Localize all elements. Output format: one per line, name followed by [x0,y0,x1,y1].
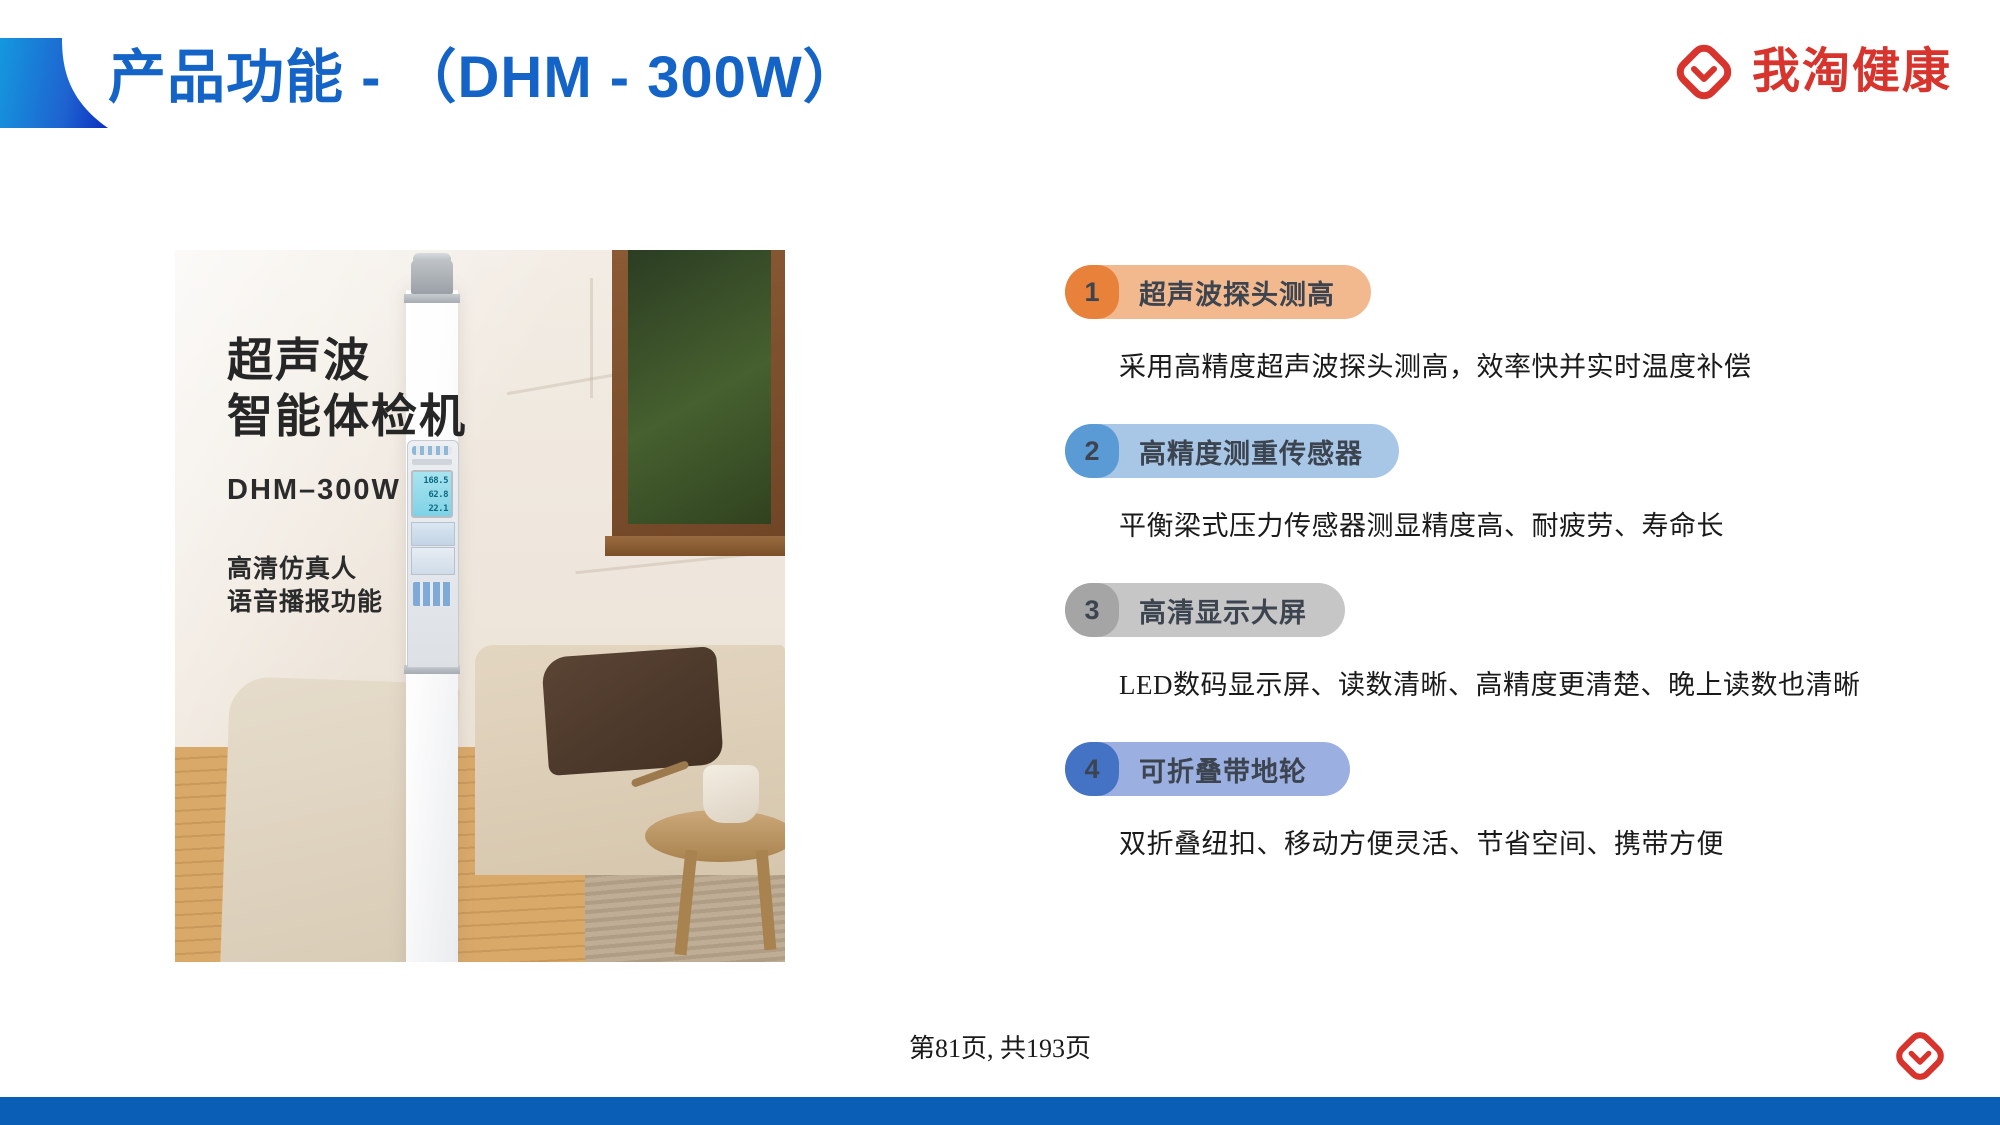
header-accent-shape [0,38,108,128]
photo-window-sill [605,536,785,556]
slide-header: 产品功能 - （DHM - 300W） 我淘健康 [0,0,2000,150]
photo-headline-line1: 超声波 [227,332,467,388]
photo-sub-line1: 高清仿真人 [227,553,467,586]
feature-pill-1[interactable]: 1 超声波探头测高 [1065,265,1371,319]
feature-description-3: LED数码显示屏、读数清晰、高精度更清楚、晚上读数也清晰 [1119,663,1925,702]
photo-cushion [541,646,724,776]
feature-item-2: 2 高精度测重传感器 平衡梁式压力传感器测显精度高、耐疲劳、寿命长 [1065,424,1925,543]
diamond-smile-icon [1672,40,1736,104]
photo-headline-line2: 智能体检机 [227,388,467,444]
photo-ceramic-jug [703,765,759,823]
feature-pill-3[interactable]: 3 高清显示大屏 [1065,583,1345,637]
page-title: 产品功能 - （DHM - 300W） [108,36,862,120]
photo-model-text: DHM–300W [227,474,467,507]
page-number: 第81页, 共193页 [0,1028,2000,1065]
feature-number-badge-1: 1 [1065,265,1119,319]
photo-text-overlay: 超声波 智能体检机 DHM–300W 高清仿真人 语音播报功能 [227,332,467,619]
feature-description-2: 平衡梁式压力传感器测显精度高、耐疲劳、寿命长 [1119,504,1925,543]
feature-label-1: 超声波探头测高 [1119,273,1335,312]
photo-sub-line2: 语音播报功能 [227,586,467,619]
device-ultrasonic-head [411,260,453,294]
feature-label-3: 高清显示大屏 [1119,591,1307,630]
feature-number-badge-4: 4 [1065,742,1119,796]
feature-description-4: 双折叠纽扣、移动方便灵活、节省空间、携带方便 [1119,822,1925,861]
device-band [404,294,460,303]
feature-pill-4[interactable]: 4 可折叠带地轮 [1065,742,1350,796]
feature-item-1: 1 超声波探头测高 采用高精度超声波探头测高，效率快并实时温度补偿 [1065,265,1925,384]
feature-description-1: 采用高精度超声波探头测高，效率快并实时温度补偿 [1119,345,1925,384]
feature-pill-2[interactable]: 2 高精度测重传感器 [1065,424,1399,478]
feature-item-3: 3 高清显示大屏 LED数码显示屏、读数清晰、高精度更清楚、晚上读数也清晰 [1065,583,1925,702]
feature-label-2: 高精度测重传感器 [1119,432,1363,471]
photo-window-frame [612,250,785,550]
product-photo: 168.5 62.8 22.1 超声波 智能体检机 DHM–300W 高清仿真人… [175,250,785,962]
feature-item-4: 4 可折叠带地轮 双折叠纽扣、移动方便灵活、节省空间、携带方便 [1065,742,1925,861]
brand-name: 我淘健康 [1752,40,1952,104]
footer-diamond-smile-icon [1892,1028,1948,1084]
feature-number-badge-2: 2 [1065,424,1119,478]
photo-window-foliage [628,250,771,524]
brand-logo: 我淘健康 [1672,40,1952,104]
footer-bar [0,1097,2000,1125]
feature-label-4: 可折叠带地轮 [1119,750,1307,789]
feature-number-badge-3: 3 [1065,583,1119,637]
feature-list: 1 超声波探头测高 采用高精度超声波探头测高，效率快并实时温度补偿 2 高精度测… [1065,265,1925,861]
photo-wall-line [590,278,593,398]
